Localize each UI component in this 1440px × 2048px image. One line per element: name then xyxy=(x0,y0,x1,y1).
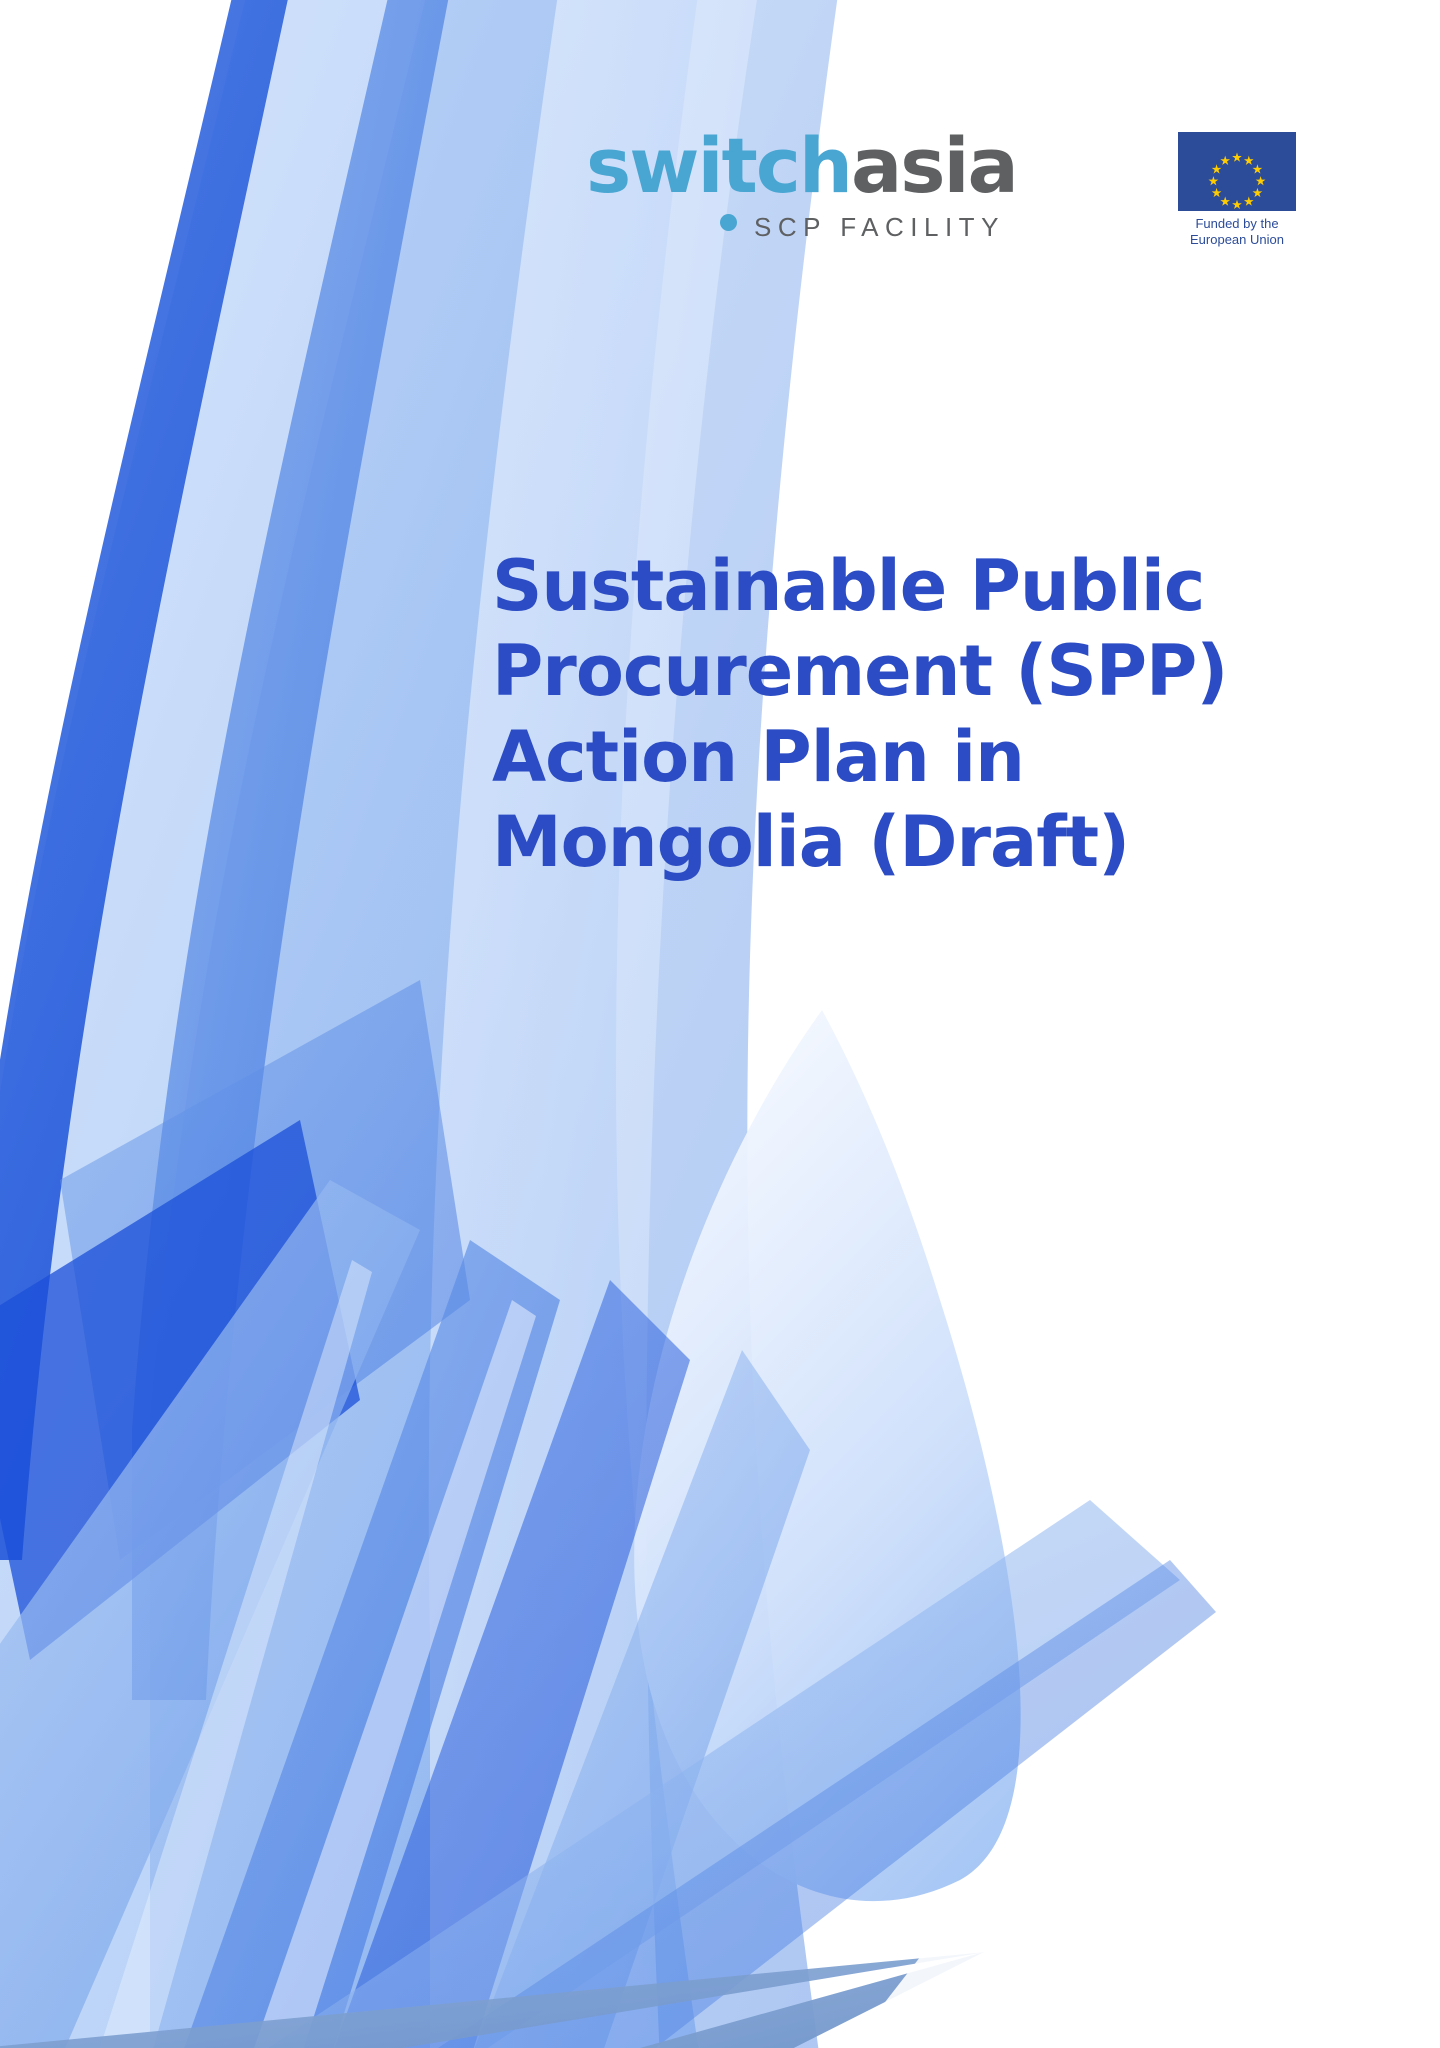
logo-word-asia: asia xyxy=(851,121,1017,210)
logo-dot-icon xyxy=(720,214,737,231)
european-union-emblem: Funded by the European Union xyxy=(1178,132,1302,272)
logo-tagline: SCP FACILITY xyxy=(754,212,1005,243)
logo-word-switch: switch xyxy=(586,121,851,210)
cover-page: switchasia SCP FACILITY xyxy=(0,0,1440,2048)
switchasia-logo: switchasia SCP FACILITY xyxy=(586,128,1106,258)
logo-row: switchasia SCP FACILITY xyxy=(0,0,1440,300)
abstract-blue-wave-graphic xyxy=(0,0,1440,2048)
title-line-2: Procurement (SPP) xyxy=(492,629,1232,714)
switchasia-wordmark: switchasia xyxy=(586,128,1017,204)
eu-funding-label: Funded by the European Union xyxy=(1178,216,1296,249)
title-line-4: Mongolia (Draft) xyxy=(492,800,1232,885)
title-line-1: Sustainable Public xyxy=(492,544,1232,629)
title-line-3: Action Plan in xyxy=(492,715,1232,800)
eu-flag-icon xyxy=(1178,132,1296,211)
page-title: Sustainable Public Procurement (SPP) Act… xyxy=(492,544,1232,886)
